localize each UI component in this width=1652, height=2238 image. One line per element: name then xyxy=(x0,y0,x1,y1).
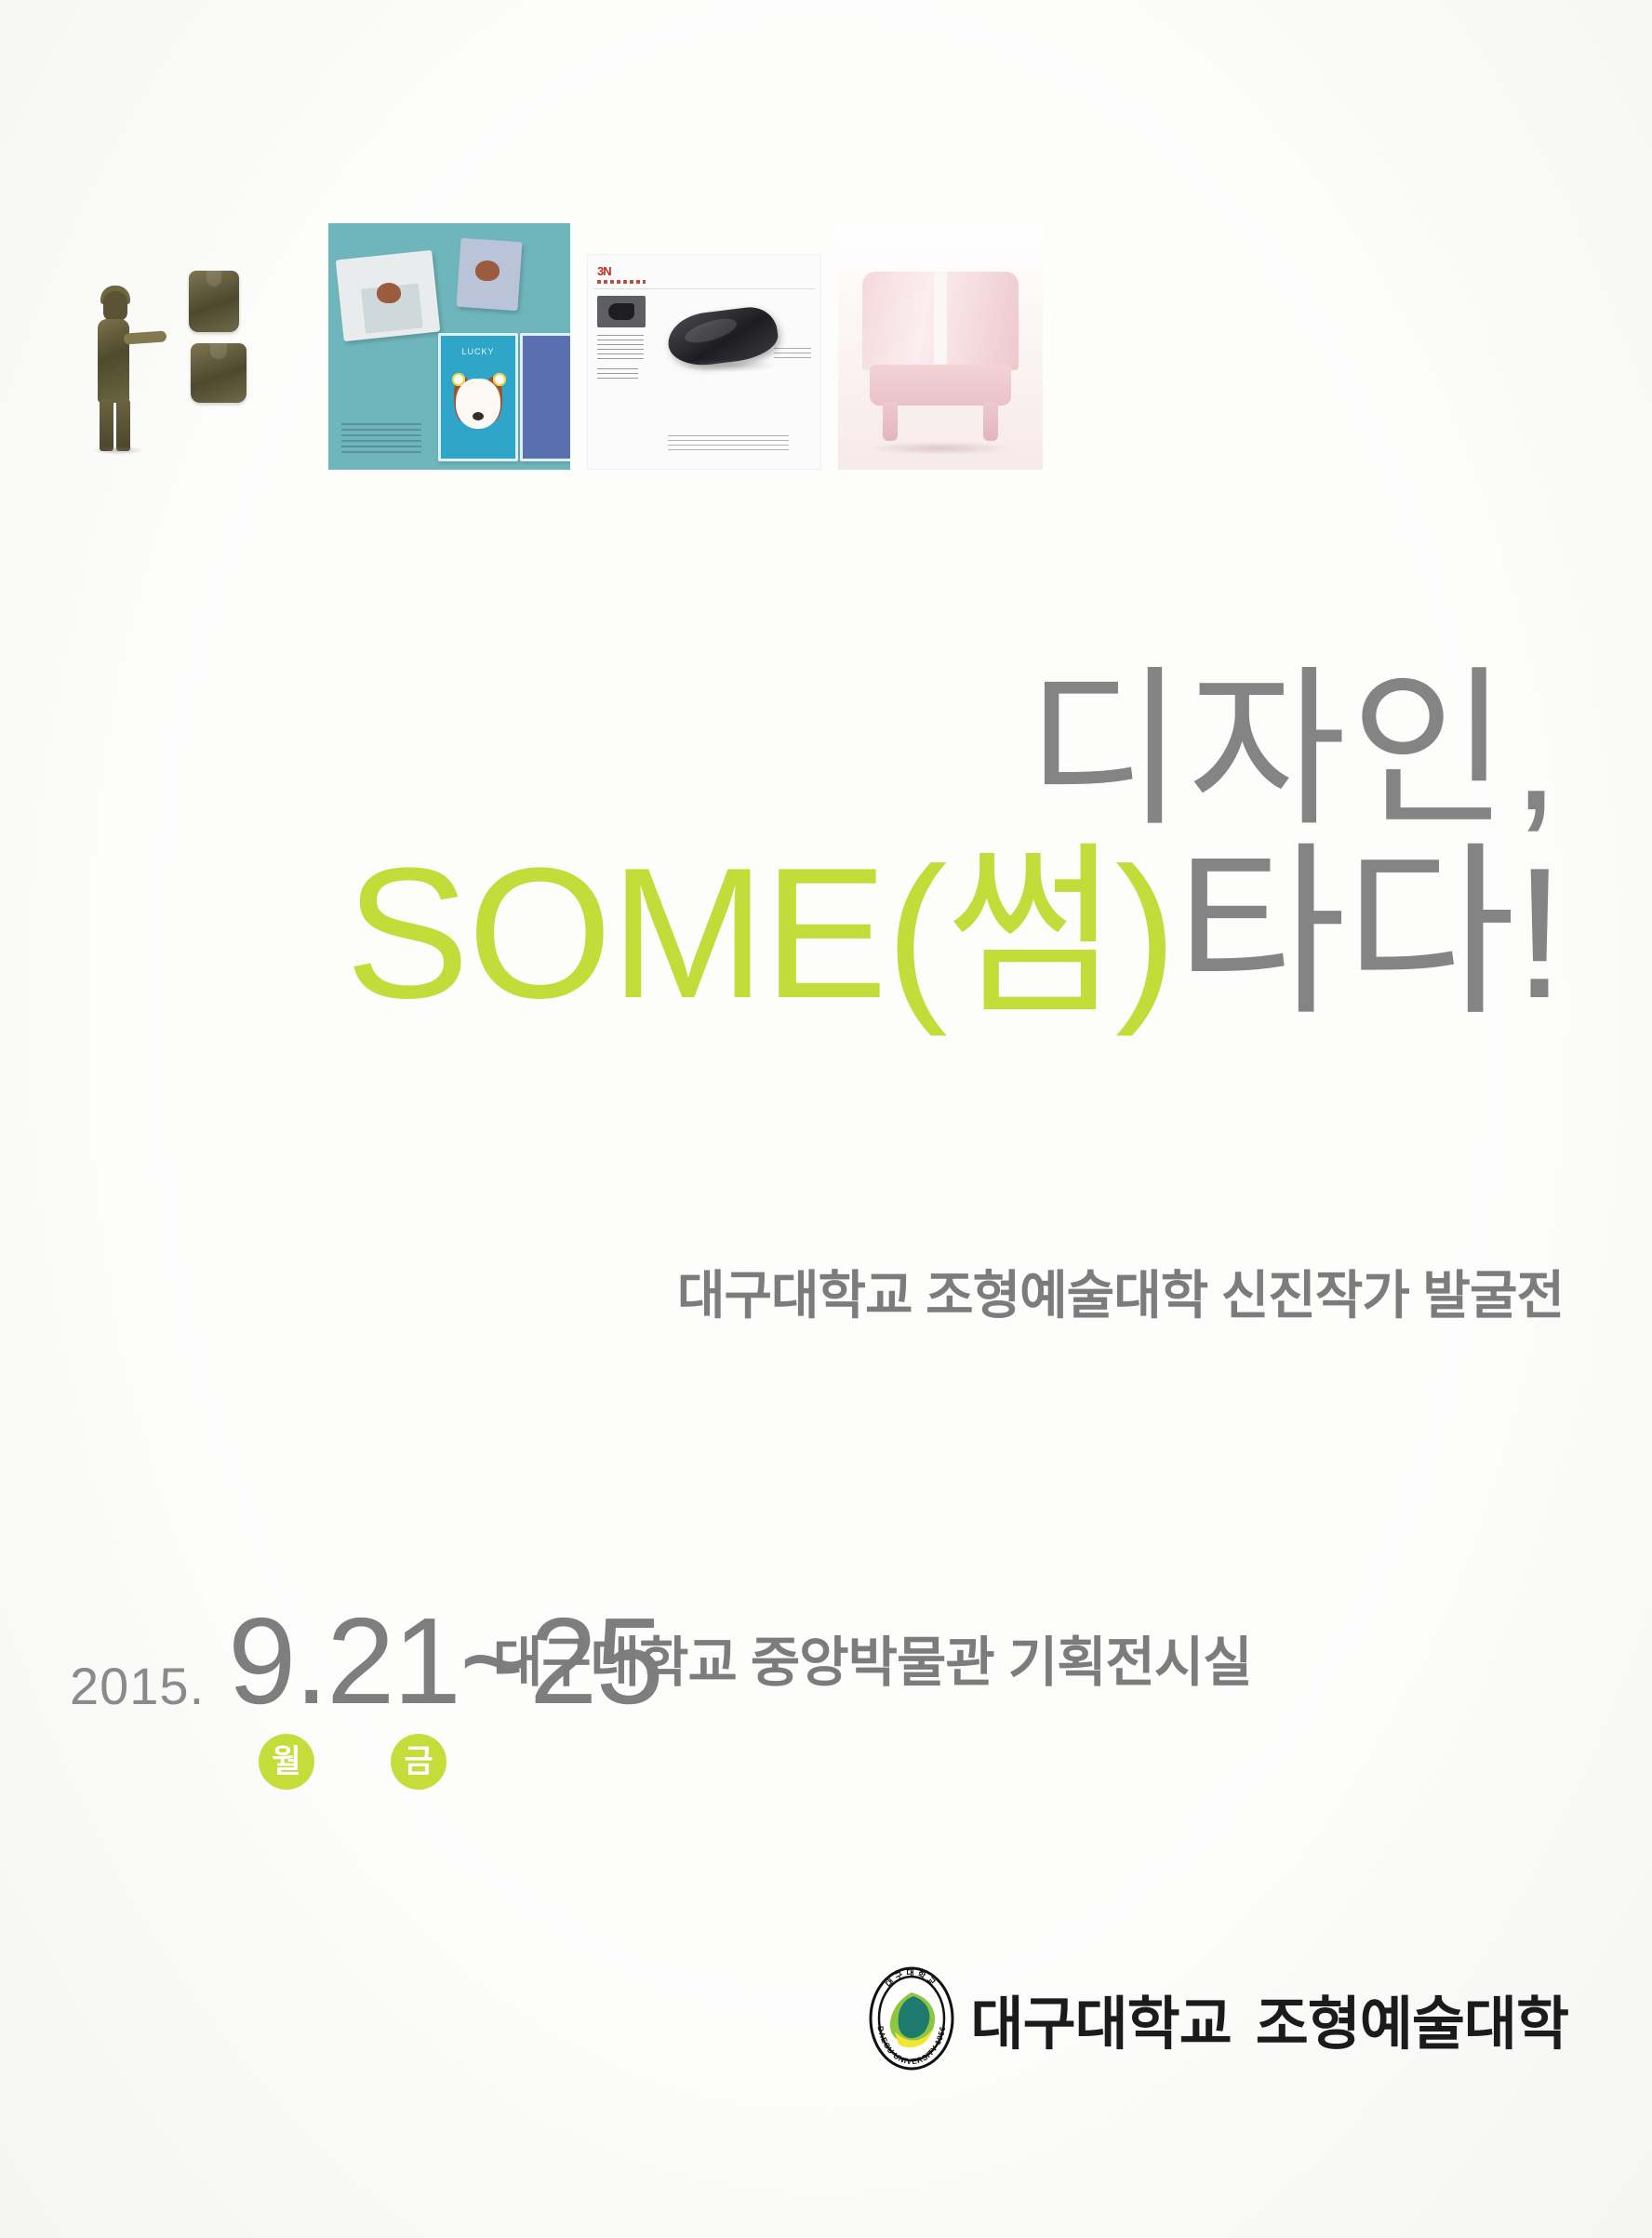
thumbnail-pink-furniture-design xyxy=(838,223,1043,470)
product-shadow xyxy=(677,359,779,372)
daegu-university-emblem-icon: 대구대학교 DAEGU UNIVERSITY 1956 xyxy=(867,1966,956,2071)
footer-identity: 대구대학교 DAEGU UNIVERSITY 1956 대구대학교조형예술대학 xyxy=(867,1966,1568,2071)
board-text-block xyxy=(597,335,644,359)
title-line-design: 디자인, xyxy=(0,670,1564,833)
board-brand-subtitle-lines xyxy=(597,280,646,284)
chair-center-gap xyxy=(934,272,947,372)
exhibition-year: 2015. xyxy=(70,1656,205,1716)
postcard-secondary xyxy=(520,333,570,461)
end-day-badge: 금 xyxy=(391,1734,446,1790)
packaging-body-text-block xyxy=(341,423,421,455)
postcard-lucky: LUCKY xyxy=(438,333,518,461)
board-caption-lines xyxy=(668,435,789,450)
thumbnail-packaging-postcard-design: LUCKY xyxy=(328,223,570,470)
chair-leg xyxy=(983,402,998,441)
footer-university: 대구대학교 xyxy=(971,1992,1232,2057)
exhibition-venue: 대구대학교 중앙박물관 기획전시실 xyxy=(493,1619,1252,1697)
chair-leg xyxy=(883,402,898,441)
board-divider-line xyxy=(593,288,815,289)
chair-seat xyxy=(870,365,1011,406)
title-some-green: SOME(썸) xyxy=(345,830,1175,1037)
date-and-venue-bar: 2015. 9.21~25 월 금 대구대학교 중앙박물관 기획전시실 xyxy=(70,1592,1587,1788)
poster-subtitle: 대구대학교 조형예술대학 신진작가 발굴전 xyxy=(677,1254,1564,1329)
footer-college: 조형예술대학 xyxy=(1256,1992,1568,2057)
chair-shadow xyxy=(870,442,1011,455)
title-line-some-tada: SOME(썸)타다! xyxy=(0,843,1564,1025)
postcard-caption: LUCKY xyxy=(441,347,515,356)
tactical-vest-icon xyxy=(189,271,239,332)
poster-canvas: LUCKY 3N xyxy=(0,0,1652,2238)
dog-illustration-icon xyxy=(377,283,401,303)
board-text-block xyxy=(774,348,811,361)
thumbnail-military-figure-artwork xyxy=(79,228,312,470)
artwork-thumbnail-strip: LUCKY 3N xyxy=(79,200,1074,470)
tactical-vest-icon xyxy=(191,343,246,403)
dog-illustration-icon xyxy=(475,260,500,281)
board-brand-logo: 3N xyxy=(597,264,611,278)
board-text-block xyxy=(597,368,638,380)
start-day-badge: 월 xyxy=(259,1734,314,1790)
title-tada-gray: 타다! xyxy=(1175,830,1564,1037)
soldier-figure-icon xyxy=(90,284,142,449)
thumbnail-eyewear-product-board: 3N xyxy=(587,254,821,470)
footer-organization-name: 대구대학교조형예술대학 xyxy=(971,1977,1568,2060)
board-thumbnail-swatch xyxy=(597,296,646,327)
poster-title-block: 디자인, SOME(썸)타다! xyxy=(0,670,1564,1025)
